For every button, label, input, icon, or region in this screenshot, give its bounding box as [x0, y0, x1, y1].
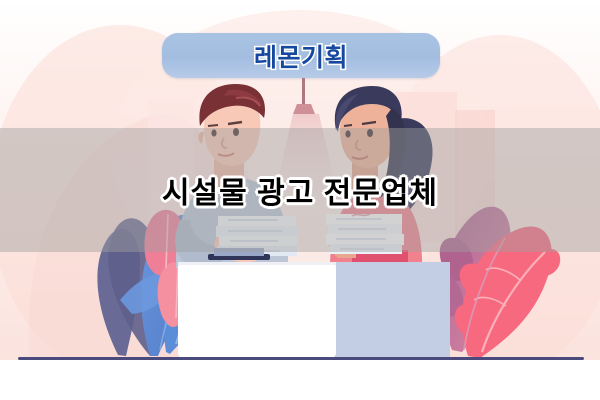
headline-label: 시설물 광고 전문업체 [162, 168, 438, 212]
brand-badge: 레몬기획 [162, 33, 440, 78]
desk [178, 248, 450, 358]
bottom-strip [0, 360, 600, 400]
baseline-rule [18, 357, 584, 360]
brand-badge-label: 레몬기획 [254, 38, 348, 74]
headline: 시설물 광고 전문업체 [0, 160, 600, 220]
banner-canvas: 레몬기획 시설물 광고 전문업체 [0, 0, 600, 400]
paper-stack-right [326, 214, 404, 254]
